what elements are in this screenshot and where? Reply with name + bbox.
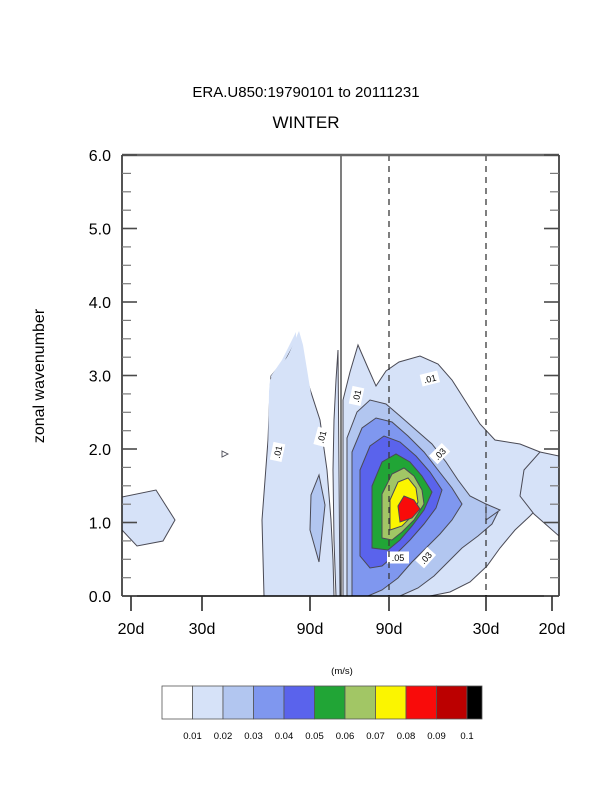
colorbar-swatch: [406, 686, 437, 719]
contour-figure: ERA.U850:19790101 to 20111231 WINTER: [0, 0, 612, 792]
colorbar-tick-label: 0.05: [305, 731, 324, 742]
y-tick-label: 0.0: [89, 589, 111, 606]
colorbar-swatch: [315, 686, 346, 719]
svg-text:.05: .05: [392, 553, 405, 563]
y-tick-label: 4.0: [89, 295, 111, 312]
colorbar: [162, 686, 482, 719]
y-tick-label: 5.0: [89, 222, 111, 239]
y-tick-label: 6.0: [89, 148, 111, 165]
colorbar-tick-label: 0.1: [460, 731, 473, 742]
x-tick-label: 30d: [189, 621, 216, 638]
y-tick-label: 3.0: [89, 369, 111, 386]
colorbar-tick-label: 0.09: [427, 731, 446, 742]
colorbar-swatch: [345, 686, 376, 719]
colorbar-tick-label: 0.02: [214, 731, 233, 742]
colorbar-tick-label: 0.04: [275, 731, 294, 742]
colorbar-tick-labels: 0.01 0.02 0.03 0.04 0.05 0.06 0.07 0.08 …: [183, 731, 473, 742]
x-tick-label: 90d: [297, 621, 324, 638]
figure-title: ERA.U850:19790101 to 20111231: [192, 84, 419, 101]
y-axis-title: zonal wavenumber: [31, 308, 48, 443]
colorbar-swatch: [223, 686, 254, 719]
colorbar-swatch: [254, 686, 285, 719]
colorbar-swatch: [162, 686, 193, 719]
figure-subtitle: WINTER: [272, 113, 339, 132]
colorbar-swatch: [284, 686, 315, 719]
colorbar-tick-label: 0.06: [336, 731, 355, 742]
colorbar-swatch: [437, 686, 468, 719]
colorbar-tick-label: 0.03: [244, 731, 263, 742]
colorbar-swatch: [193, 686, 224, 719]
x-axis-ticks: [131, 596, 552, 611]
x-tick-label: 20d: [539, 621, 566, 638]
x-tick-label: 90d: [376, 621, 403, 638]
y-tick-label: 1.0: [89, 516, 111, 533]
colorbar-tick-label: 0.01: [183, 731, 202, 742]
colorbar-swatch: [467, 686, 482, 719]
colorbar-units-label: (m/s): [331, 666, 353, 677]
x-axis-tick-labels: 20d 30d 90d 90d 30d 20d: [118, 621, 566, 638]
y-tick-label: 2.0: [89, 442, 111, 459]
x-tick-label: 30d: [473, 621, 500, 638]
x-tick-label: 20d: [118, 621, 145, 638]
colorbar-tick-label: 0.07: [366, 731, 385, 742]
y-axis-tick-labels: 6.0 5.0 4.0 3.0 2.0 1.0 0.0: [89, 148, 111, 606]
colorbar-swatch: [376, 686, 407, 719]
colorbar-tick-label: 0.08: [397, 731, 416, 742]
